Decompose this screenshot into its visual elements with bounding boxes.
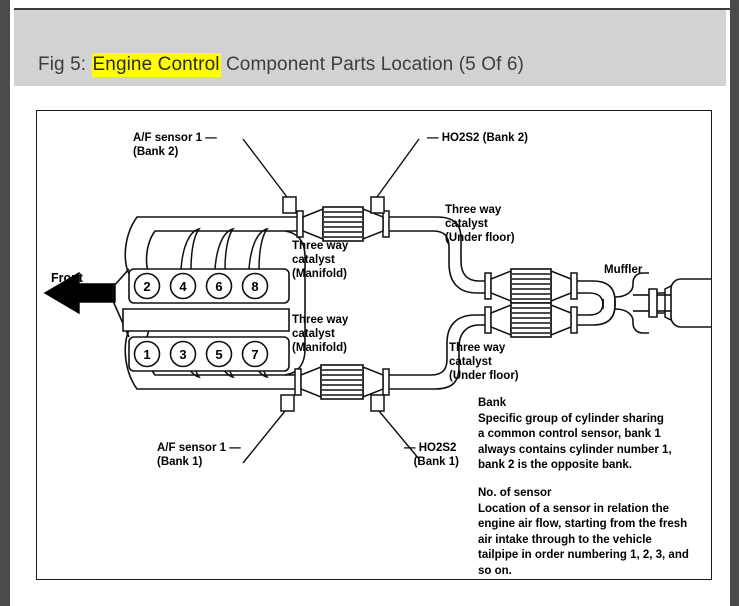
note-sensor-line4: tailpipe in order numbering 1, 2, 3, and [478, 549, 689, 561]
label-twc-manifold-bank2-line3: (Manifold) [292, 268, 347, 280]
label-twc-underfloor-bank2: Three way catalyst (Under floor) [445, 203, 515, 245]
af-sensor-bank1-body [243, 395, 294, 463]
figure-title: Fig 5: Engine Control Component Parts Lo… [38, 54, 524, 76]
label-af-sensor-bank2-line2: (Bank 2) [133, 146, 178, 158]
figure-title-highlight: Engine Control [92, 53, 221, 77]
label-ho2s2-bank1-line2: (Bank 1) [414, 456, 459, 468]
window-bottom-edge [14, 596, 730, 606]
note-bank-line4: bank 2 is the opposite bank. [478, 459, 632, 471]
label-twc-underfloor-bank1: Three way catalyst (Under floor) [449, 341, 519, 383]
label-ho2s2-bank1-line1: HO2S2 [419, 442, 457, 454]
engine-block-center [123, 309, 289, 331]
three-way-catalyst-manifold-bank1 [295, 365, 389, 399]
muffler-canister [611, 259, 612, 260]
note-sensor-line5: so on. [478, 565, 512, 577]
cylinder-number-2: 2 [143, 279, 150, 294]
label-front-direction: Front [51, 271, 83, 285]
label-twc-underfloor-bank1-line2: catalyst [449, 356, 492, 368]
label-twc-underfloor-bank2-line3: (Under floor) [445, 232, 515, 244]
cylinder-number-1: 1 [143, 347, 150, 362]
note-bank-line2: a common control sensor, bank 1 [478, 428, 661, 440]
af-sensor-bank2-body [243, 139, 296, 213]
diagram-frame: 2 4 6 8 1 3 5 7 [36, 110, 712, 580]
label-ho2s2-bank2-text: HO2S2 (Bank 2) [442, 132, 528, 144]
window-right-edge [730, 0, 739, 606]
three-way-catalyst-underfloor-bank2 [485, 269, 577, 303]
label-twc-underfloor-bank2-line2: catalyst [445, 218, 488, 230]
label-af-sensor-bank1-line2: (Bank 1) [157, 456, 202, 468]
label-af-sensor-bank1-line1: A/F sensor 1 [157, 442, 226, 454]
note-bank: Bank Specific group of cylinder sharing … [478, 396, 672, 474]
note-bank-title: Bank [478, 397, 506, 409]
muffler-body [597, 271, 677, 321]
note-sensor-number: No. of sensor Location of a sensor in re… [478, 486, 689, 579]
page-root: Fig 5: Engine Control Component Parts Lo… [0, 0, 739, 606]
window-left-edge [0, 0, 10, 606]
note-sensor-line2: engine air flow, starting from the fresh [478, 518, 687, 530]
cylinder-number-7: 7 [251, 347, 258, 362]
label-muffler: Muffler [604, 263, 642, 277]
cylinder-number-6: 6 [215, 279, 222, 294]
note-sensor-title: No. of sensor [478, 487, 551, 499]
note-sensor-line1: Location of a sensor in relation the [478, 503, 669, 515]
label-twc-manifold-bank2: Three way catalyst (Manifold) [292, 239, 348, 281]
label-ho2s2-bank1: — HO2S2 (Bank 1) [404, 441, 459, 469]
cylinder-number-8: 8 [251, 279, 258, 294]
figure-header-band: Fig 5: Engine Control Component Parts Lo… [14, 10, 726, 86]
note-bank-line3: always contains cylinder number 1, [478, 444, 672, 456]
ho2s2-bank2-body [371, 139, 419, 213]
cylinder-number-5: 5 [215, 347, 222, 362]
note-bank-line1: Specific group of cylinder sharing [478, 413, 664, 425]
label-twc-manifold-bank1: Three way catalyst (Manifold) [292, 313, 348, 355]
three-way-catalyst-underfloor-bank1 [485, 303, 577, 337]
figure-title-prefix: Fig 5: [38, 54, 92, 75]
label-af-sensor-bank1: A/F sensor 1 — (Bank 1) [157, 441, 241, 469]
label-twc-underfloor-bank1-line3: (Under floor) [449, 370, 519, 382]
figure-title-suffix: Component Parts Location (5 Of 6) [221, 54, 524, 75]
label-twc-underfloor-bank1-line1: Three way [449, 342, 505, 354]
cylinder-number-3: 3 [179, 347, 186, 362]
label-af-sensor-bank2-line1: A/F sensor 1 [133, 132, 202, 144]
label-twc-manifold-bank1-line3: (Manifold) [292, 342, 347, 354]
label-twc-manifold-bank2-line1: Three way [292, 240, 348, 252]
cylinder-number-4: 4 [179, 279, 187, 294]
engine-block: 2 4 6 8 1 3 5 7 [113, 229, 305, 377]
label-af-sensor-bank2: A/F sensor 1 — (Bank 2) [133, 131, 217, 159]
label-twc-manifold-bank1-line1: Three way [292, 314, 348, 326]
note-sensor-line3: air intake through to the vehicle [478, 534, 652, 546]
label-ho2s2-bank2: — HO2S2 (Bank 2) [427, 131, 528, 145]
label-twc-manifold-bank2-line2: catalyst [292, 254, 335, 266]
label-twc-manifold-bank1-line2: catalyst [292, 328, 335, 340]
label-twc-underfloor-bank2-line1: Three way [445, 204, 501, 216]
